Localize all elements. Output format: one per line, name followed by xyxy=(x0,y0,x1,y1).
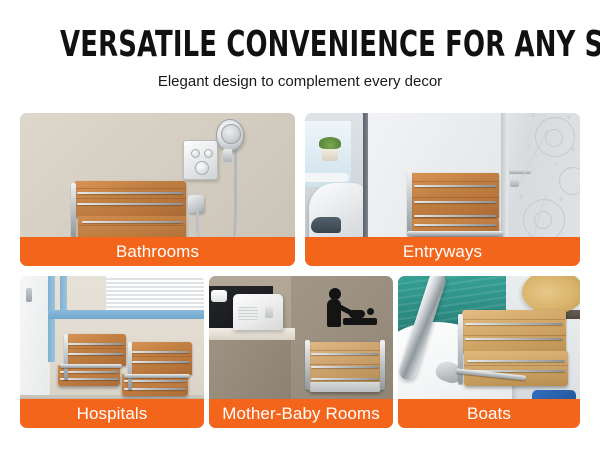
entry-plant-pot xyxy=(322,148,338,161)
panel-bathrooms[interactable]: Bathrooms xyxy=(20,113,295,266)
panel-label-entryways: Entryways xyxy=(305,237,580,266)
door-frame xyxy=(48,276,55,362)
entry-plant xyxy=(319,137,341,149)
panel-mother-baby-rooms[interactable]: Mother-Baby Rooms xyxy=(209,276,393,428)
promo-banner: VERSATILE CONVENIENCE FOR ANY SPACE Eleg… xyxy=(0,0,600,450)
door-handle-icon xyxy=(509,169,531,174)
panel-hospitals[interactable]: Hospitals xyxy=(20,276,204,428)
wooden-hospital-seat-left xyxy=(66,334,126,386)
entry-side-table xyxy=(305,173,349,182)
wooden-entry-seat xyxy=(411,173,499,235)
wooden-boat-seat xyxy=(462,310,566,386)
panel-label-mother-baby-rooms: Mother-Baby Rooms xyxy=(209,399,393,428)
panel-label-boats: Boats xyxy=(398,399,580,428)
wooden-shower-seat xyxy=(74,181,186,243)
shower-head xyxy=(216,119,244,151)
wooden-hospital-seat-right xyxy=(130,342,192,396)
window-blinds xyxy=(106,276,204,314)
mb-wall-hook xyxy=(211,290,227,302)
baby-changing-pictogram xyxy=(317,288,377,336)
panel-label-bathrooms: Bathrooms xyxy=(20,237,295,266)
hospital-door-handle-icon xyxy=(26,288,32,302)
panel-boats[interactable]: Boats xyxy=(398,276,580,428)
panel-label-hospitals: Hospitals xyxy=(20,399,204,428)
mb-cabinet xyxy=(209,340,291,400)
panel-grid: Bathrooms xyxy=(0,0,600,450)
shower-head-holder xyxy=(223,149,232,162)
entry-chair xyxy=(309,183,367,245)
shower-valve xyxy=(183,140,218,180)
blue-handrail xyxy=(48,310,204,319)
mb-dispenser xyxy=(233,294,283,330)
wooden-mb-seat xyxy=(309,342,381,392)
panel-entryways[interactable]: Entryways xyxy=(305,113,580,266)
